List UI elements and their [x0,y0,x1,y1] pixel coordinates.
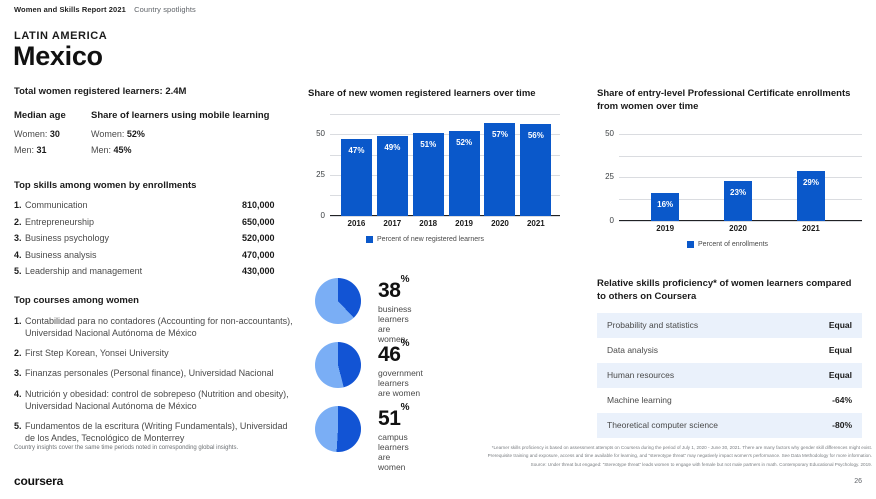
x-axis-tick-label: 2020 [480,219,520,228]
x-axis-tick-label: 2019 [645,224,685,233]
x-axis-labels: 201920202021 [597,221,862,235]
legend-swatch [366,236,373,243]
skill-enrollments: 430,000 [242,266,294,276]
table-body: Probability and statisticsEqualData anal… [597,313,862,438]
proficiency-value: -64% [832,395,852,405]
bar: 52% [449,131,480,216]
bar: 57% [484,123,515,216]
proficiency-value: Equal [829,320,852,330]
skill-name: Entrepreneurship [25,217,242,227]
label: Men: [91,145,111,155]
y-axis-tick-label: 50 [598,129,614,138]
rank: 4. [14,388,25,412]
bar-value-label: 49% [377,143,408,152]
x-axis-tick-label: 2020 [718,224,758,233]
course-row: 5.Fundamentos de la escritura (Writing F… [14,420,294,444]
skill-name: Data analysis [607,345,829,355]
skill-name: Leadership and management [25,266,242,276]
bar-value-label: 57% [484,130,515,139]
course-name: Fundamentos de la escritura (Writing Fun… [25,420,294,444]
plot-area: 0255047%49%51%52%57%56% [330,114,560,216]
bar-value-label: 23% [724,188,752,197]
skill-row: 5.Leadership and management430,000 [14,266,294,276]
course-row: 4.Nutrición y obesidad: control de sobre… [14,388,294,412]
mobile-learning-men: Men: 45% [91,145,269,155]
pie-caption: government learners are women [378,368,423,398]
proficiency-value: -80% [832,420,852,430]
bar: 49% [377,136,408,216]
rank: 5. [14,420,25,444]
table-row: Data analysisEqual [597,338,862,363]
x-axis-tick-label: 2017 [372,219,412,228]
gridline-minor [619,156,862,157]
footnote-line-2: Prerequisite training and exposure, acce… [383,452,872,460]
bar: 51% [413,133,444,216]
stats-grid: Median age Women: 30 Men: 31 Share of le… [14,110,294,161]
left-column: Total women registered learners: 2.4M Me… [14,86,294,452]
courses-heading: Top courses among women [14,295,294,306]
course-row: 1.Contabilidad para no contadores (Accou… [14,315,294,339]
skill-name: Business psychology [25,233,242,243]
skills-list: 1.Communication810,0002.Entrepreneurship… [14,200,294,276]
course-row: 3.Finanzas personales (Personal finance)… [14,367,294,379]
gridline-minor [330,114,560,115]
chart-legend: Percent of new registered learners [366,236,618,243]
table-row: Human resourcesEqual [597,363,862,388]
x-axis-tick-label: 2019 [444,219,484,228]
rank: 2. [14,347,25,359]
left-footnote: Country insights cover the same time per… [14,445,238,451]
courses-list: 1.Contabilidad para no contadores (Accou… [14,315,294,444]
pie-stat-text: 46%government learners are women [378,343,423,398]
percent-symbol: % [401,338,410,349]
median-age-women: Women: 30 [14,129,91,139]
total-learners-heading: Total women registered learners: 2.4M [14,86,294,97]
value: 52% [127,129,145,139]
skill-enrollments: 520,000 [242,233,294,243]
x-axis-tick-label: 2018 [408,219,448,228]
gridline-major [619,177,862,178]
value: 45% [114,145,132,155]
bar: 56% [520,124,551,215]
table-row: Probability and statisticsEqual [597,313,862,338]
pie-percent-value: 38% [378,279,412,303]
value: 30 [50,129,60,139]
bar-value-label: 16% [651,200,679,209]
rank: 5. [14,266,25,276]
x-axis-tick-label: 2021 [791,224,831,233]
skill-name: Machine learning [607,395,832,405]
plot-area: 0255016%23%29% [619,126,862,221]
label: Men: [14,145,34,155]
percent-symbol: % [401,402,410,413]
course-name: Contabilidad para no contadores (Account… [25,315,294,339]
bar: 47% [341,139,372,216]
skill-row: 1.Communication810,000 [14,200,294,210]
legend-swatch [687,241,694,248]
skill-name: Probability and statistics [607,320,829,330]
page-number: 26 [854,478,862,485]
rank: 3. [14,367,25,379]
course-row: 2.First Step Korean, Yonsei University [14,347,294,359]
pie-chart [315,406,361,452]
skill-name: Theoretical computer science [607,420,832,430]
bar-fill [724,181,752,221]
pie-percent-value: 46% [378,343,423,367]
proficiency-value: Equal [829,345,852,355]
rank: 2. [14,217,25,227]
bar-value-label: 52% [449,138,480,147]
x-axis-tick-label: 2021 [516,219,556,228]
y-axis-tick-label: 25 [598,172,614,181]
rank: 1. [14,315,25,339]
proficiency-value: Equal [829,370,852,380]
chart-entry-level-prof-cert: Share of entry-level Professional Certif… [597,88,862,242]
skill-name: Communication [25,200,242,210]
skill-enrollments: 810,000 [242,200,294,210]
mobile-learning-heading: Share of learners using mobile learning [91,110,269,121]
median-age-heading: Median age [14,110,91,121]
skill-row: 3.Business psychology520,000 [14,233,294,243]
gridline-major [619,134,862,135]
label: Women: [14,129,47,139]
chart-new-women-learners: Share of new women registered learners o… [308,88,560,237]
skill-row: 4.Business analysis470,000 [14,250,294,260]
x-axis-tick-label: 2016 [336,219,376,228]
skills-proficiency-table: Relative skills proficiency* of women le… [597,278,862,438]
skill-name: Human resources [607,370,829,380]
table-title: Relative skills proficiency* of women le… [597,278,862,304]
skill-name: Business analysis [25,250,242,260]
median-age-men: Men: 31 [14,145,91,155]
skills-heading: Top skills among women by enrollments [14,180,294,191]
median-age-block: Median age Women: 30 Men: 31 [14,110,91,161]
page: Women and Skills Report 2021 Country spo… [0,0,876,499]
mobile-learning-block: Share of learners using mobile learning … [91,110,269,161]
report-section: Country spotlights [134,5,196,14]
chart-title: Share of new women registered learners o… [308,88,560,101]
bar: 23% [724,181,752,221]
page-title: Mexico [13,41,103,72]
pie-chart [315,342,361,388]
value: 31 [37,145,47,155]
legend-label: Percent of new registered learners [377,236,484,243]
percent-symbol: % [401,274,410,285]
x-axis-labels: 201620172018201920202021 [308,216,560,230]
y-axis-tick-label: 25 [309,170,325,179]
report-name: Women and Skills Report 2021 [14,5,126,14]
pie-chart [315,278,361,324]
bar-value-label: 51% [413,140,444,149]
skill-row: 2.Entrepreneurship650,000 [14,217,294,227]
rank: 4. [14,250,25,260]
rank: 3. [14,233,25,243]
skill-enrollments: 650,000 [242,217,294,227]
footnote-line-3: Source: Under threat but engaged: “Stere… [383,461,872,469]
bar-value-label: 47% [341,146,372,155]
table-row: Theoretical computer science-80% [597,413,862,438]
legend-label: Percent of enrollments [698,241,768,248]
bar: 29% [797,171,825,221]
breadcrumb: Women and Skills Report 2021 Country spo… [14,5,196,14]
rank: 1. [14,200,25,210]
mobile-learning-women: Women: 52% [91,129,269,139]
course-name: First Step Korean, Yonsei University [25,347,294,359]
course-name: Nutrición y obesidad: control de sobrepe… [25,388,294,412]
skill-enrollments: 470,000 [242,250,294,260]
bar: 16% [651,193,679,221]
y-axis-tick-label: 50 [309,129,325,138]
chart-title: Share of entry-level Professional Certif… [597,88,862,114]
table-row: Machine learning-64% [597,388,862,413]
label: Women: [91,129,124,139]
bar-value-label: 29% [797,178,825,187]
pie-percent-value: 51% [378,407,409,431]
right-footnotes: *Learner skills proficiency is based on … [383,444,872,469]
bar-value-label: 56% [520,131,551,140]
course-name: Finanzas personales (Personal finance), … [25,367,294,379]
footnote-line-1: *Learner skills proficiency is based on … [383,444,872,452]
pie-stat-text: 38%business learners are women [378,279,412,344]
chart-legend: Percent of enrollments [687,241,876,248]
coursera-logo: coursera [14,474,63,488]
